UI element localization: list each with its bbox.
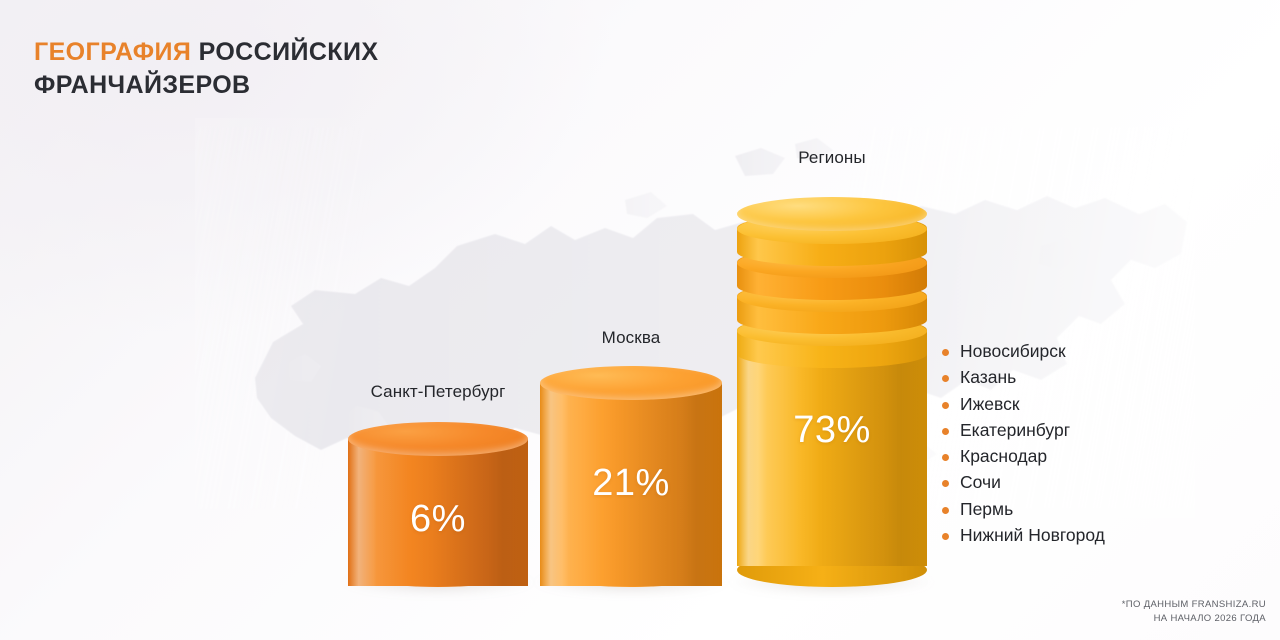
bar-value-regions: 73% [737, 409, 927, 452]
list-item: Казань [938, 366, 1268, 389]
list-item: Новосибирск [938, 340, 1268, 363]
bar-top-cap [540, 366, 722, 400]
list-item: Сочи [938, 471, 1268, 494]
footnote-line-1: *ПО ДАННЫМ FRANSHIZA.RU [1122, 598, 1266, 612]
bar-label-regions: Регионы [737, 148, 927, 168]
bar-body [737, 349, 927, 566]
bar-top-cap [737, 197, 927, 231]
footnote: *ПО ДАННЫМ FRANSHIZA.RU НА НАЧАЛО 2026 Г… [1122, 598, 1266, 626]
footnote-line-2: НА НАЧАЛО 2026 ГОДА [1122, 612, 1266, 626]
list-item: Пермь [938, 498, 1268, 521]
bar-spb: 6% [348, 422, 528, 585]
bar-label-spb: Санкт-Петербург [338, 382, 538, 402]
bar-value-spb: 6% [348, 498, 528, 541]
list-item: Ижевск [938, 393, 1268, 416]
city-list: Новосибирск Казань Ижевск Екатеринбург К… [938, 340, 1268, 550]
list-item: Нижний Новгород [938, 524, 1268, 547]
list-item: Екатеринбург [938, 419, 1268, 442]
bar-moscow: 21% [540, 366, 722, 585]
bar-top-cap [348, 422, 528, 456]
list-item: Краснодар [938, 445, 1268, 468]
bar-regions: 73% [737, 197, 927, 585]
bar-value-moscow: 21% [540, 462, 722, 505]
bar-label-moscow: Москва [531, 328, 731, 348]
